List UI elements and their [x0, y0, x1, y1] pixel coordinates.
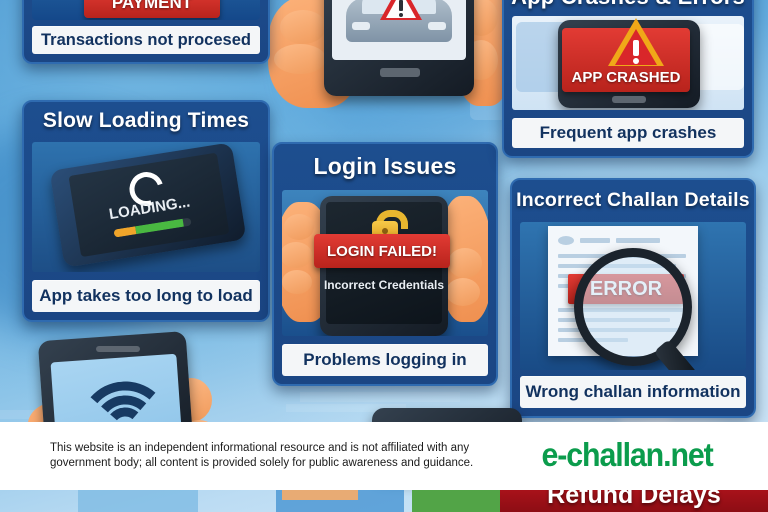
- card-incorrect-challan[interactable]: Incorrect Challan Details ERROR: [510, 178, 756, 418]
- slow-loading-caption-label: App takes too long to load: [39, 286, 252, 306]
- payment-scene: PAYMENT: [32, 0, 260, 20]
- background-stripe: [300, 392, 460, 402]
- payment-badge: PAYMENT: [84, 0, 220, 18]
- warning-exclamation-icon: [399, 0, 403, 11]
- brand-logo-label: e-challan.net: [541, 436, 712, 474]
- login-caption: Problems logging in: [282, 344, 488, 376]
- finger-shape: [446, 278, 480, 306]
- finger-shape: [284, 214, 314, 240]
- crashes-title: App Crashes & Errors: [504, 0, 752, 10]
- progress-fill-ok: [135, 219, 184, 234]
- document-line: [580, 238, 610, 243]
- disclaimer-text: This website is an independent informati…: [50, 441, 480, 472]
- challan-caption-label: Wrong challan information: [525, 382, 740, 402]
- challan-caption: Wrong challan information: [520, 376, 746, 408]
- payment-caption-label: Transactions not procesed: [41, 31, 251, 50]
- card-slow-loading[interactable]: Slow Loading Times LOADING... App takes …: [22, 100, 270, 322]
- slow-loading-title: Slow Loading Times: [24, 109, 268, 133]
- login-subtext: Incorrect Credentials: [318, 278, 450, 292]
- challan-title: Incorrect Challan Details: [512, 189, 754, 212]
- car-headlight: [352, 22, 370, 30]
- login-failed-label: LOGIN FAILED!: [327, 243, 437, 260]
- payment-badge-label: PAYMENT: [112, 0, 192, 13]
- document-line: [616, 238, 660, 243]
- finger-shape: [274, 44, 326, 74]
- finger-shape: [282, 270, 312, 294]
- slow-loading-scene: LOADING...: [32, 142, 260, 272]
- car-alert-illustration: [268, 0, 508, 118]
- warning-exclamation-icon: [633, 40, 639, 56]
- crashes-scene: APP CRASHED: [512, 16, 744, 110]
- card-login-issues[interactable]: Login Issues LOGIN FAILED! Incorrect Cr: [272, 142, 498, 386]
- login-scene: LOGIN FAILED! Incorrect Credentials: [282, 190, 488, 336]
- warning-exclamation-dot: [399, 13, 403, 17]
- warning-exclamation-dot: [633, 58, 639, 64]
- phone-screen: [332, 0, 466, 60]
- refund-delays-label: Refund Delays: [500, 490, 768, 510]
- app-crashed-label: APP CRASHED: [572, 69, 681, 86]
- challan-scene: ERROR: [520, 222, 746, 370]
- crashes-caption-label: Frequent app crashes: [540, 123, 717, 143]
- login-caption-label: Problems logging in: [303, 350, 466, 370]
- slow-loading-caption: App takes too long to load: [32, 280, 260, 312]
- payment-caption: Transactions not procesed: [32, 26, 260, 54]
- phone-home-button: [380, 68, 420, 77]
- car-headlight: [428, 22, 446, 30]
- finger-shape: [280, 10, 326, 44]
- document-line: [558, 236, 574, 245]
- finger-shape: [448, 248, 482, 278]
- disclaimer-bar: This website is an independent informati…: [0, 422, 768, 490]
- progress-fill-warning: [113, 226, 136, 237]
- tablet-home-button: [612, 96, 646, 103]
- crashes-caption: Frequent app crashes: [512, 118, 744, 148]
- card-app-crashes[interactable]: App Crashes & Errors APP CRASHED Frequen…: [502, 0, 754, 158]
- login-failed-banner: LOGIN FAILED!: [314, 234, 450, 268]
- login-title: Login Issues: [274, 153, 496, 180]
- phone-speaker: [96, 346, 140, 352]
- infographic-canvas: PAYMENT Transactions not procesed Slow L…: [0, 0, 768, 512]
- refund-delays-band: Refund Delays: [500, 490, 768, 512]
- brand-logo[interactable]: e-challan.net: [534, 436, 720, 474]
- card-payment-failures[interactable]: PAYMENT Transactions not procesed: [22, 0, 270, 64]
